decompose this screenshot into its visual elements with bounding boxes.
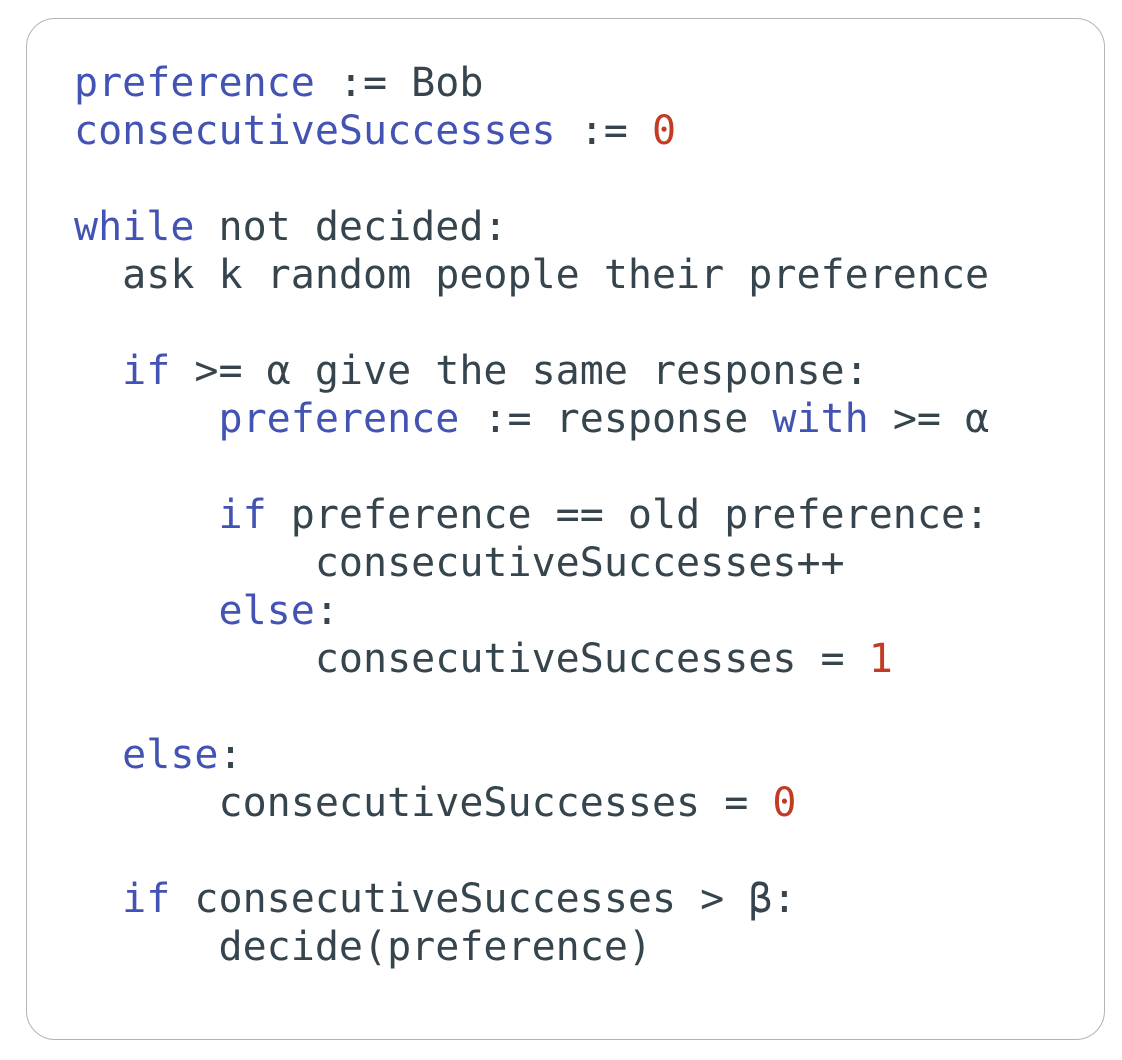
code-line: consecutiveSuccesses++ — [74, 539, 989, 587]
code-indent — [74, 924, 219, 970]
code-line: else: — [74, 587, 989, 635]
code-token-plain: : — [315, 588, 339, 634]
code-line: preference := response with >= α — [74, 395, 989, 443]
code-token-kw: else — [219, 588, 315, 634]
code-token-kw: if — [219, 492, 267, 538]
code-token-plain: := Bob — [315, 60, 484, 106]
code-token-kw: while — [74, 204, 194, 250]
code-token-plain: := — [556, 108, 652, 154]
code-indent — [74, 876, 122, 922]
code-line: ask k random people their preference — [74, 251, 989, 299]
code-token-plain: := response — [459, 396, 772, 442]
code-line: consecutiveSuccesses := 0 — [74, 107, 989, 155]
code-token-plain: preference == old preference: — [267, 492, 989, 538]
code-line: decide(preference) — [74, 923, 989, 971]
code-token-plain: consecutiveSuccesses = — [219, 780, 773, 826]
code-indent — [74, 252, 122, 298]
code-token-plain: consecutiveSuccesses++ — [315, 540, 845, 586]
code-token-num: 1 — [869, 636, 893, 682]
code-line: while not decided: — [74, 203, 989, 251]
code-token-plain: ask k random people their preference — [122, 252, 989, 298]
code-line: if >= α give the same response: — [74, 347, 989, 395]
code-token-plain: decide(preference) — [219, 924, 652, 970]
code-token-var: preference — [74, 60, 315, 106]
code-line-blank — [74, 683, 989, 731]
code-line-blank — [74, 299, 989, 347]
code-line: if consecutiveSuccesses > β: — [74, 875, 989, 923]
code-indent — [74, 396, 219, 442]
pseudocode-block: preference := BobconsecutiveSuccesses :=… — [74, 59, 989, 971]
code-token-plain: consecutiveSuccesses > β: — [170, 876, 796, 922]
code-token-num: 0 — [652, 108, 676, 154]
pseudocode-card: preference := BobconsecutiveSuccesses :=… — [26, 18, 1105, 1040]
code-token-kw: else — [122, 732, 218, 778]
code-token-plain: : — [219, 732, 243, 778]
code-indent — [74, 540, 315, 586]
code-token-plain: consecutiveSuccesses = — [315, 636, 869, 682]
code-indent — [74, 780, 219, 826]
code-line-blank — [74, 155, 989, 203]
code-line: else: — [74, 731, 989, 779]
code-token-var: consecutiveSuccesses — [74, 108, 556, 154]
code-indent — [74, 492, 219, 538]
code-token-num: 0 — [772, 780, 796, 826]
code-token-kw: if — [122, 876, 170, 922]
code-indent — [74, 348, 122, 394]
code-line: if preference == old preference: — [74, 491, 989, 539]
code-token-var: preference — [219, 396, 460, 442]
code-token-plain: not decided: — [194, 204, 507, 250]
code-line-blank — [74, 827, 989, 875]
code-token-kw: if — [122, 348, 170, 394]
code-indent — [74, 636, 315, 682]
code-line-blank — [74, 443, 989, 491]
code-token-plain: >= α give the same response: — [170, 348, 868, 394]
code-indent — [74, 588, 219, 634]
code-token-kw: with — [772, 396, 868, 442]
code-line: preference := Bob — [74, 59, 989, 107]
code-line: consecutiveSuccesses = 1 — [74, 635, 989, 683]
code-line: consecutiveSuccesses = 0 — [74, 779, 989, 827]
code-token-plain: >= α — [869, 396, 989, 442]
code-indent — [74, 732, 122, 778]
